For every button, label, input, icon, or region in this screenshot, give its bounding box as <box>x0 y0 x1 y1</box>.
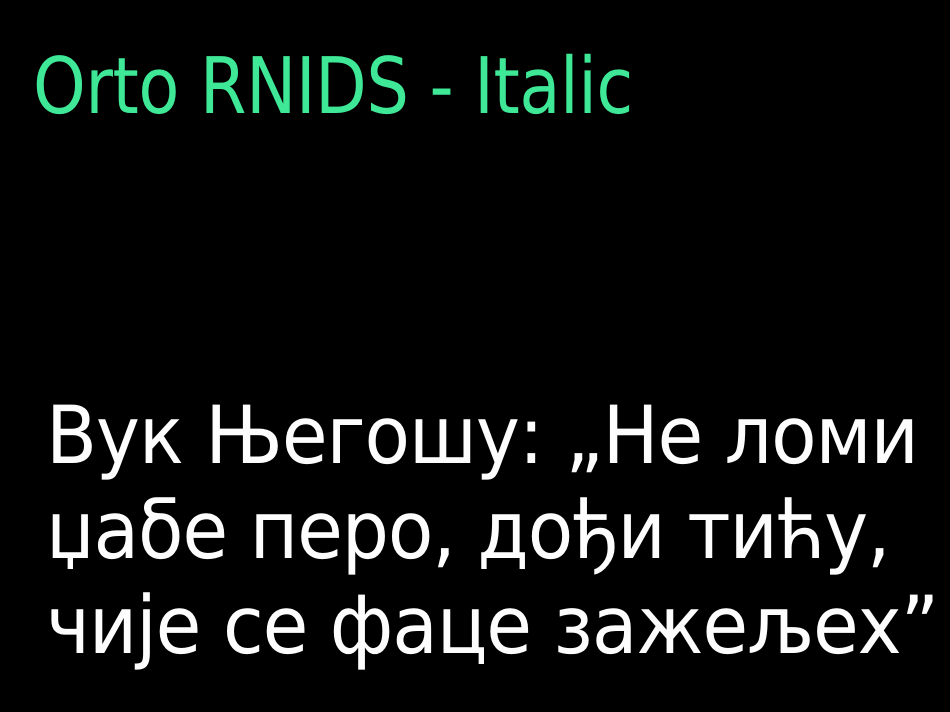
sample-text-line-2: џабе перо, дођи тићу, <box>46 483 883 578</box>
sample-text-block: Вук Његошу: „Не ломи џабе перо, дођи тић… <box>46 388 883 673</box>
sample-text-line-3: чије се фаце зажељех” <box>46 578 883 673</box>
sample-text-line-1: Вук Његошу: „Не ломи <box>46 388 883 483</box>
page-title: Orto RNIDS - Italic <box>33 48 790 126</box>
font-specimen-slide: Orto RNIDS - Italic Вук Његошу: „Не ломи… <box>0 0 950 712</box>
